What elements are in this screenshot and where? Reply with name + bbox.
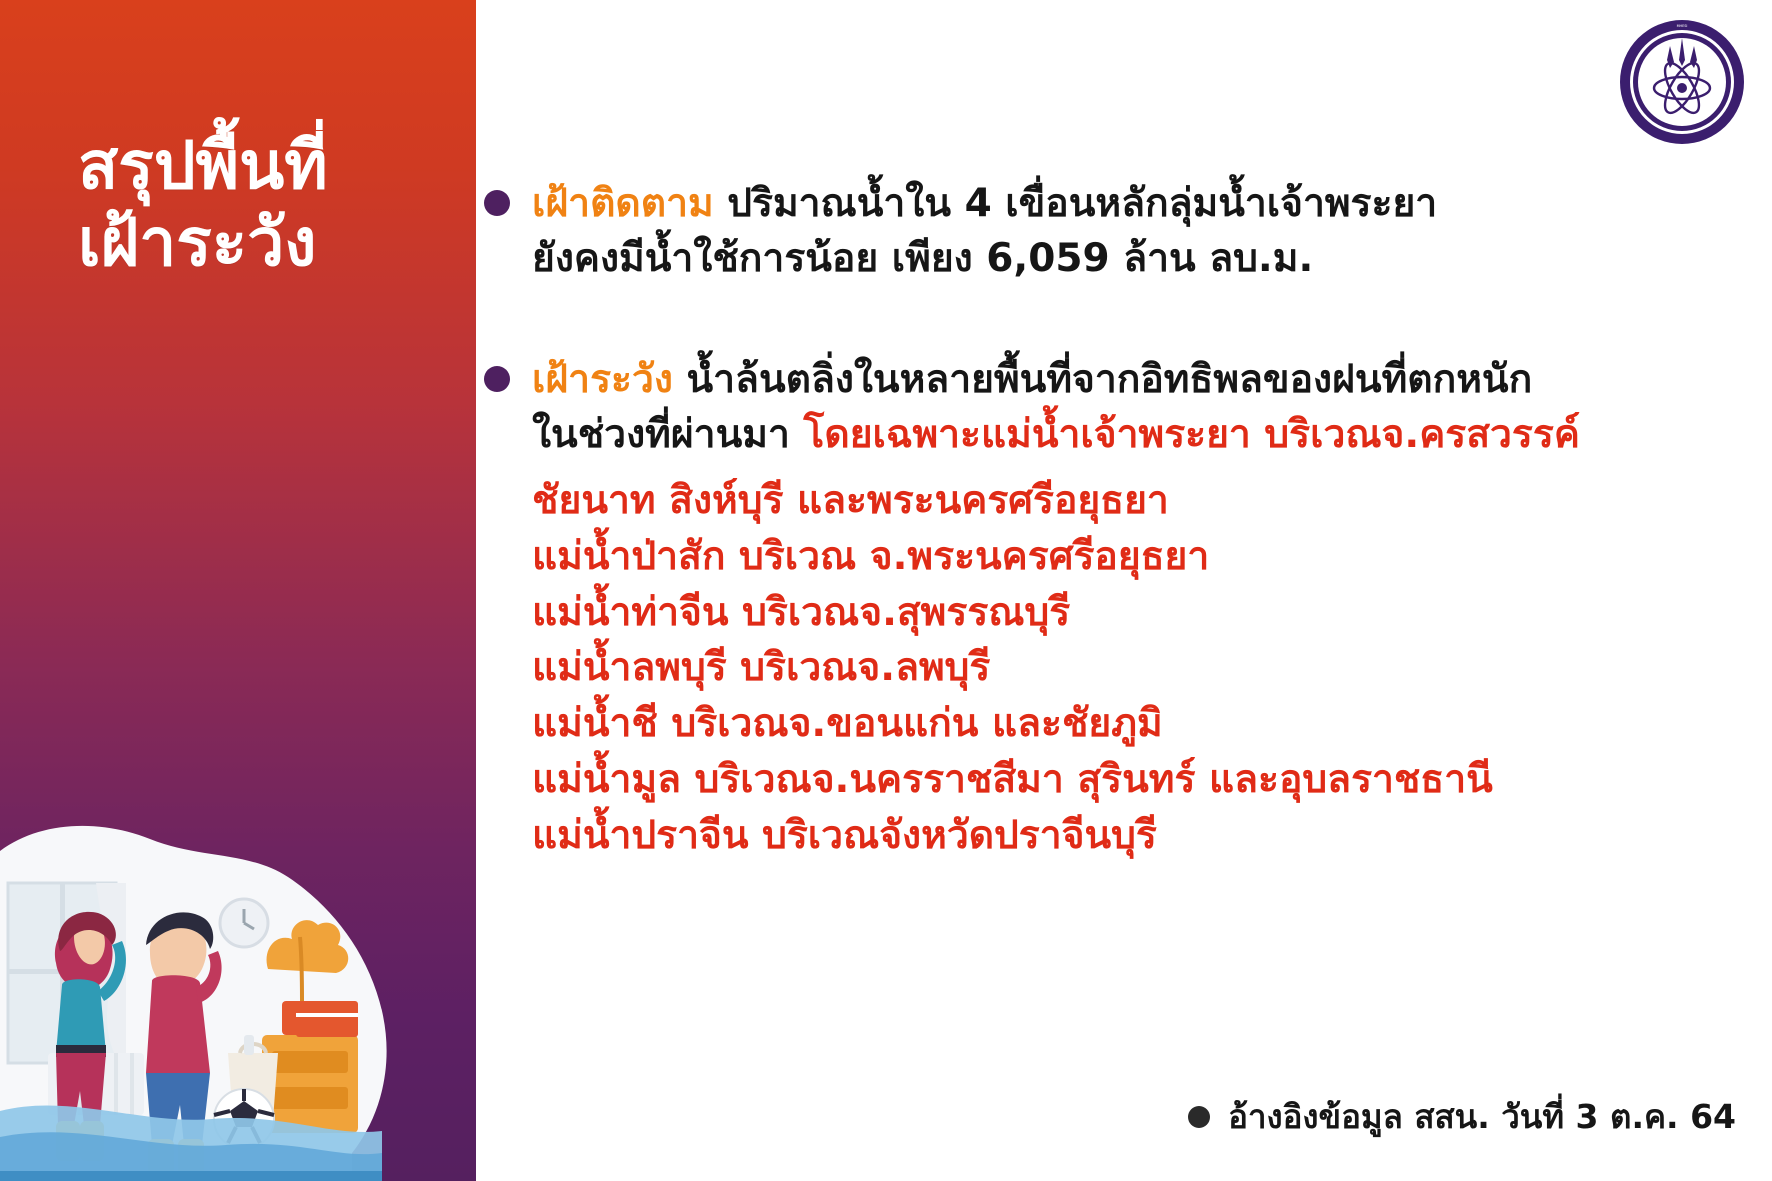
river-list-item: แม่น้ำลพบุรี บริเวณจ.ลพบุรี [532,640,1772,696]
flood-illustration [0,701,476,1181]
bullet-item-warning: เฝ้าระวัง น้ำล้นตลิ่งในหลายพื้นที่จากอิท… [484,352,1734,463]
bullet-dot-icon [484,190,510,216]
bullet-2-line1-rest: น้ำล้นตลิ่งในหลายพื้นที่จากอิทธิพลของฝนท… [673,357,1532,402]
slide-root: สรุปพื้นที่ เฝ้าระวัง [0,0,1772,1181]
river-list-item: ชัยนาท สิงห์บุรี และพระนครศรีอยุธยา [532,473,1772,529]
bullet-1-text: เฝ้าติดตาม ปริมาณน้ำใน 4 เขื่อนหลักลุ่มน… [532,176,1437,287]
river-list-item: แม่น้ำชี บริเวณจ.ขอนแก่น และชัยภูมิ [532,696,1772,752]
source-text: อ้างอิงข้อมูล สสน. วันที่ 3 ต.ค. 64 [1228,1090,1736,1143]
bullet-2-line2-red: โดยเฉพาะแม่น้ำเจ้าพระยา บริเวณจ.ครสวรรค์ [803,412,1580,457]
page-title: สรุปพื้นที่ เฝ้าระวัง [78,128,458,281]
content-area: เฝ้าติดตาม ปริมาณน้ำใน 4 เขื่อนหลักลุ่มน… [476,0,1772,1181]
river-list-item: แม่น้ำมูล บริเวณจ.นครราชสีมา สุรินทร์ แล… [532,752,1772,808]
bullet-1-line2: ยังคงมีน้ำใช้การน้อย เพียง 6,059 ล้าน ลบ… [532,231,1437,286]
bullet-item-monitoring: เฝ้าติดตาม ปริมาณน้ำใน 4 เขื่อนหลักลุ่มน… [484,176,1714,287]
bullet-2-line2-black: ในช่วงที่ผ่านมา [532,412,803,457]
left-title-panel: สรุปพื้นที่ เฝ้าระวัง [0,0,476,1181]
river-watch-list: ชัยนาท สิงห์บุรี และพระนครศรีอยุธยา แม่น… [532,473,1772,863]
bullet-1-line1-rest: ปริมาณน้ำใน 4 เขื่อนหลักลุ่มน้ำเจ้าพระยา [714,181,1438,226]
river-list-item: แม่น้ำท่าจีน บริเวณจ.สุพรรณบุรี [532,585,1772,641]
bullet-dot-icon [484,366,510,392]
bullet-2-text: เฝ้าระวัง น้ำล้นตลิ่งในหลายพื้นที่จากอิท… [532,352,1580,463]
source-footer: อ้างอิงข้อมูล สสน. วันที่ 3 ต.ค. 64 [1188,1090,1736,1143]
river-list-item: แม่น้ำป่าสัก บริเวณ จ.พระนครศรีอยุธยา [532,529,1772,585]
bullet-1-highlight: เฝ้าติดตาม [532,181,714,226]
river-list-item: แม่น้ำปราจีน บริเวณจังหวัดปราจีนบุรี [532,808,1772,864]
bullet-2-highlight: เฝ้าระวัง [532,357,673,402]
footer-dot-icon [1188,1106,1210,1128]
